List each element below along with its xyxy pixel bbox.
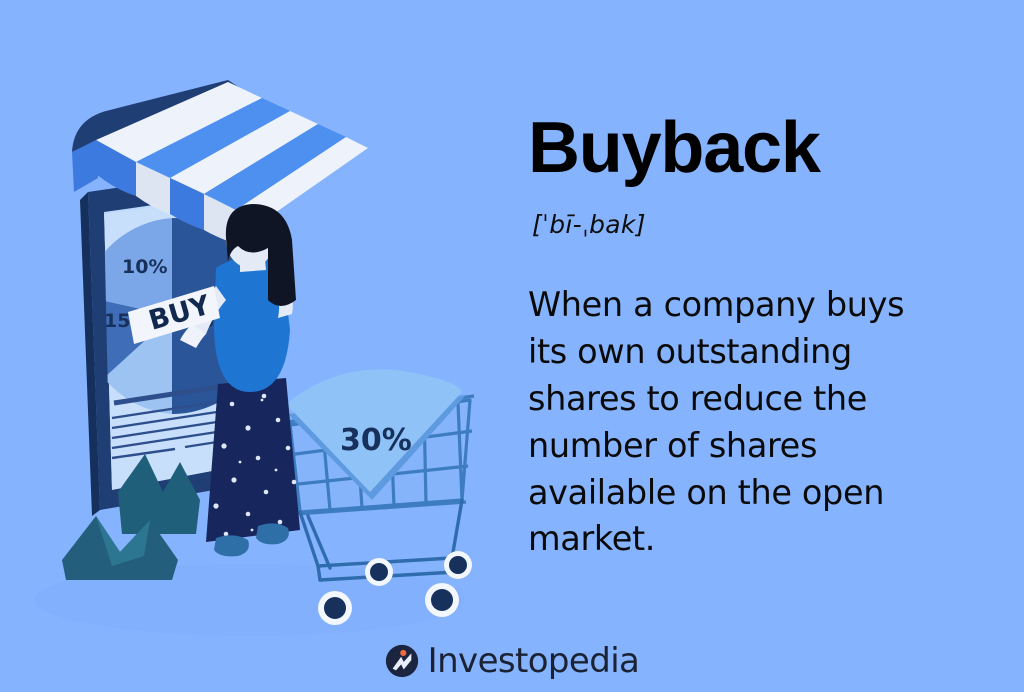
- woman-shoe-left: [214, 535, 249, 556]
- pie-slice-30-label: 30%: [340, 423, 412, 458]
- pie-label-10: 10%: [122, 256, 167, 278]
- woman-buying-shares-illustration: 10% 15% 45%: [0, 0, 510, 692]
- woman-skirt: [206, 378, 300, 542]
- definition-text: When a company buys its own outstanding …: [528, 282, 948, 563]
- definition-text-column: Buyback [ˈbī-ˌbak] When a company buys i…: [528, 112, 980, 563]
- pronunciation-text: [ˈbī-ˌbak]: [532, 210, 980, 240]
- investopedia-logo-icon: [385, 644, 419, 678]
- page-title: Buyback: [528, 112, 980, 184]
- woman-shoe-right: [256, 523, 289, 544]
- brand-footer: Investopedia: [0, 644, 1024, 678]
- definition-card: 10% 15% 45%: [0, 0, 1024, 692]
- brand-name: Investopedia: [428, 644, 640, 678]
